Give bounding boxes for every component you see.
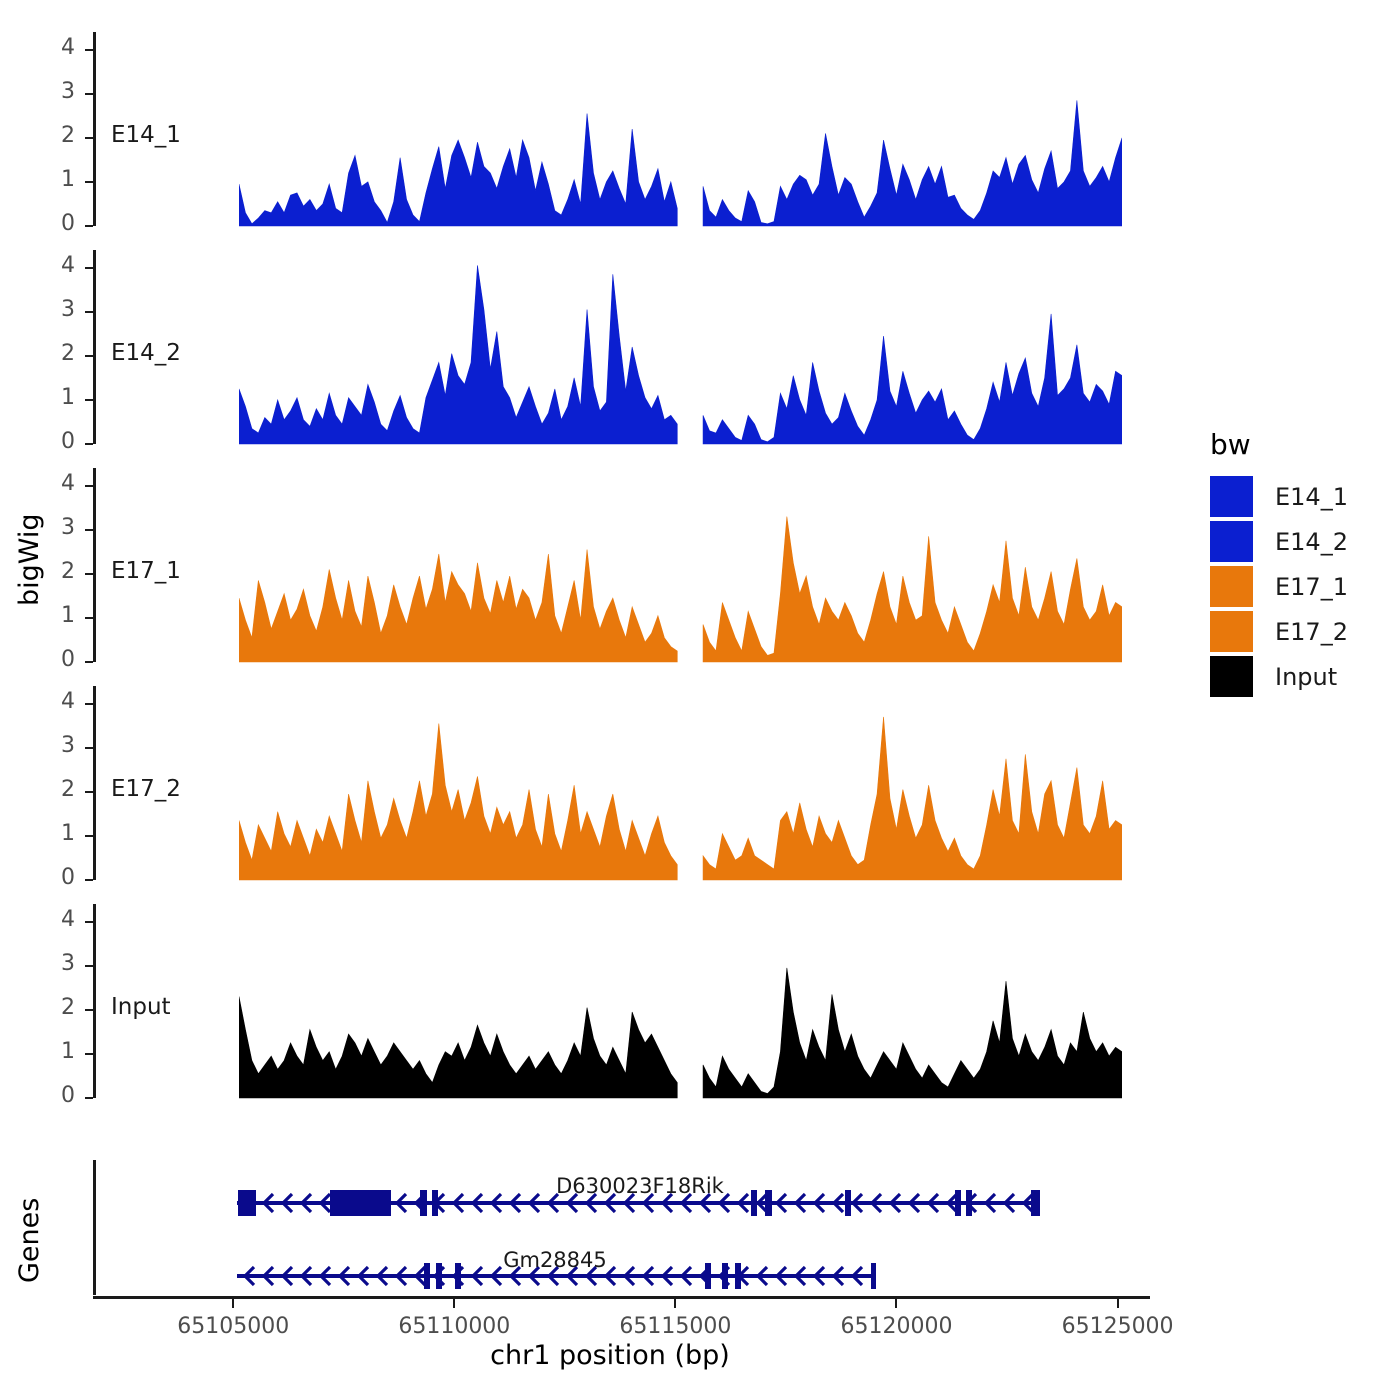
y-tick-label: 1 <box>27 821 75 846</box>
legend-item-e14_1[interactable]: E14_1 <box>1210 475 1348 518</box>
y-tick-label: 4 <box>27 907 75 932</box>
x-tick <box>453 1299 455 1308</box>
y-tick-label: 2 <box>27 777 75 802</box>
legend-swatch-e17_2 <box>1210 611 1253 652</box>
y-tick-label: 4 <box>27 253 75 278</box>
y-tick-label: 3 <box>27 733 75 758</box>
y-tick-label: 3 <box>27 951 75 976</box>
y-tick <box>85 93 93 95</box>
y-tick <box>85 1053 93 1055</box>
y-tick <box>85 443 93 445</box>
y-tick-label: 0 <box>27 1083 75 1108</box>
y-tick <box>85 617 93 619</box>
y-tick-label: 3 <box>27 297 75 322</box>
y-axis-line <box>93 250 96 444</box>
track-label-input: Input <box>111 994 171 1020</box>
legend-item-e17_1[interactable]: E17_1 <box>1210 565 1348 608</box>
legend-label: E17_1 <box>1275 573 1348 601</box>
legend-label: Input <box>1275 663 1337 691</box>
y-tick-label: 1 <box>27 167 75 192</box>
legend-swatch-input <box>1210 656 1253 697</box>
y-tick <box>85 747 93 749</box>
y-axis-title-genes: Genes <box>14 1175 46 1305</box>
y-tick <box>85 791 93 793</box>
y-tick <box>85 311 93 313</box>
gene-label-D630023F18Rik: D630023F18Rik <box>490 1174 790 1198</box>
legend-swatch-e17_1 <box>1210 566 1253 607</box>
gene-label-Gm28845: Gm28845 <box>405 1248 705 1272</box>
y-tick-label: 1 <box>27 1039 75 1064</box>
y-tick <box>85 1097 93 1099</box>
y-tick-label: 1 <box>27 603 75 628</box>
signal-area-e14_1 <box>239 32 1122 228</box>
y-tick <box>85 835 93 837</box>
y-tick-label: 0 <box>27 429 75 454</box>
y-tick <box>85 225 93 227</box>
y-tick <box>85 267 93 269</box>
x-tick-label: 65125000 <box>1028 1314 1208 1339</box>
legend-title: bw <box>1210 428 1348 461</box>
y-axis-line <box>93 686 96 880</box>
x-tick <box>1117 1299 1119 1308</box>
x-tick <box>232 1299 234 1308</box>
y-tick-label: 4 <box>27 689 75 714</box>
legend: bw E14_1E14_2E17_1E17_2Input <box>1210 428 1348 700</box>
track-label-e17_1: E17_1 <box>111 558 181 584</box>
x-tick <box>895 1299 897 1308</box>
legend-item-e17_2[interactable]: E17_2 <box>1210 610 1348 653</box>
legend-swatch-e14_1 <box>1210 476 1253 517</box>
signal-area-input <box>239 904 1122 1100</box>
y-tick <box>85 965 93 967</box>
y-axis-line <box>93 468 96 662</box>
track-label-e17_2: E17_2 <box>111 776 181 802</box>
y-tick-label: 0 <box>27 647 75 672</box>
legend-swatch-e14_2 <box>1210 521 1253 562</box>
y-tick <box>85 355 93 357</box>
x-tick <box>674 1299 676 1308</box>
track-label-e14_2: E14_2 <box>111 340 181 366</box>
signal-area-e17_2 <box>239 686 1122 882</box>
y-tick <box>85 181 93 183</box>
y-tick <box>85 661 93 663</box>
legend-label: E14_2 <box>1275 528 1348 556</box>
y-axis-line <box>93 32 96 226</box>
gene-axis-line <box>93 1160 96 1295</box>
y-tick-label: 2 <box>27 559 75 584</box>
y-tick <box>85 485 93 487</box>
signal-area-e14_2 <box>239 250 1122 446</box>
y-tick-label: 1 <box>27 385 75 410</box>
y-tick <box>85 573 93 575</box>
y-tick-label: 0 <box>27 865 75 890</box>
y-tick-label: 3 <box>27 515 75 540</box>
legend-item-input[interactable]: Input <box>1210 655 1348 698</box>
y-axis-line <box>93 904 96 1098</box>
y-tick <box>85 399 93 401</box>
y-tick <box>85 879 93 881</box>
x-tick-label: 65120000 <box>806 1314 986 1339</box>
y-tick-label: 4 <box>27 35 75 60</box>
x-tick-label: 65110000 <box>364 1314 544 1339</box>
x-axis-title: chr1 position (bp) <box>300 1340 920 1371</box>
y-tick-label: 2 <box>27 123 75 148</box>
track-label-e14_1: E14_1 <box>111 122 181 148</box>
y-tick <box>85 529 93 531</box>
y-tick <box>85 49 93 51</box>
y-tick-label: 2 <box>27 341 75 366</box>
y-tick <box>85 921 93 923</box>
y-tick <box>85 1009 93 1011</box>
y-tick-label: 0 <box>27 211 75 236</box>
signal-area-e17_1 <box>239 468 1122 664</box>
y-tick-label: 2 <box>27 995 75 1020</box>
x-tick-label: 65115000 <box>585 1314 765 1339</box>
legend-label: E17_2 <box>1275 618 1348 646</box>
legend-item-e14_2[interactable]: E14_2 <box>1210 520 1348 563</box>
x-axis-line <box>93 1296 1150 1299</box>
x-tick-label: 65105000 <box>143 1314 323 1339</box>
legend-label: E14_1 <box>1275 483 1348 511</box>
y-tick <box>85 703 93 705</box>
y-tick-label: 3 <box>27 79 75 104</box>
y-tick <box>85 137 93 139</box>
y-tick-label: 4 <box>27 471 75 496</box>
